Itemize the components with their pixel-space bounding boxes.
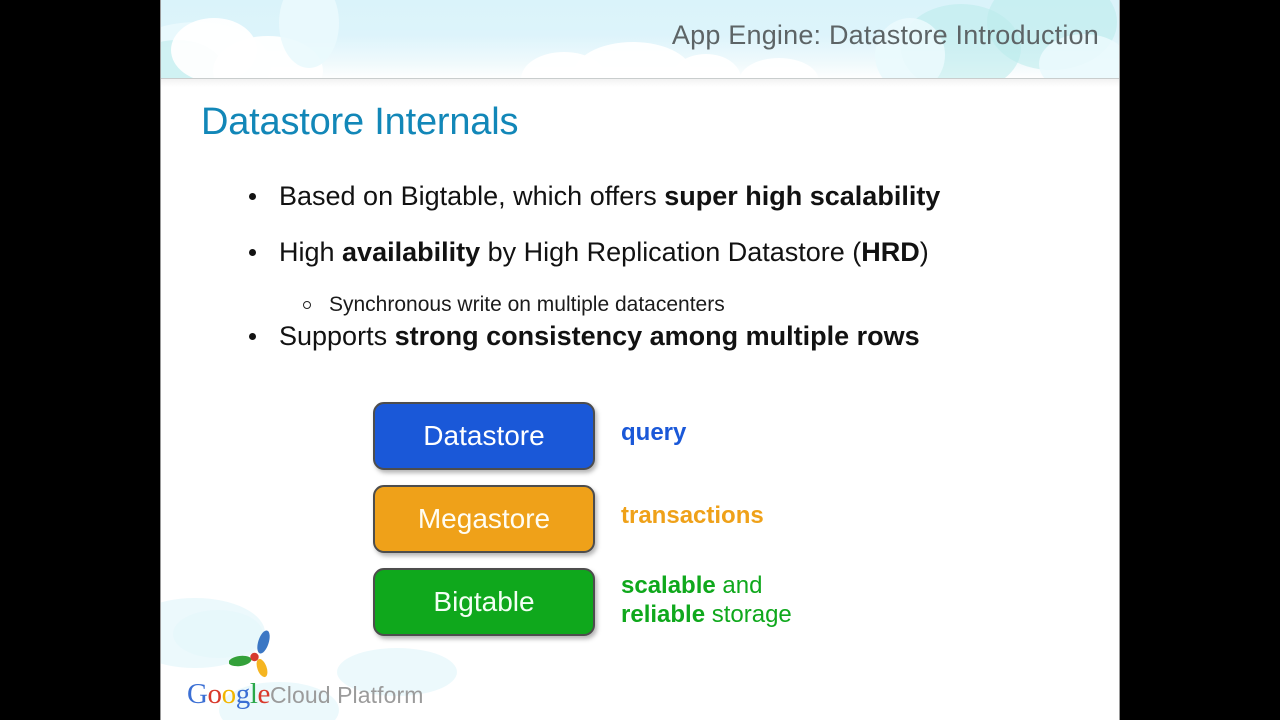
bullet-list: Based on Bigtable, which offers super hi… xyxy=(201,179,1091,375)
emphasis-text: query xyxy=(621,419,686,446)
slide-canvas: App Engine: Datastore Introduction Datas… xyxy=(160,0,1120,720)
sub-bullet-item: Synchronous write on multiple datacenter… xyxy=(201,291,1091,319)
stack-box-megastore: Megastore xyxy=(373,485,595,553)
stack-box-datastore: Datastore xyxy=(373,402,595,470)
sub-bullet-circle-icon xyxy=(303,301,311,309)
brand-suffix: Cloud Platform xyxy=(270,682,424,708)
emphasis-text: strong consistency among multiple rows xyxy=(395,321,920,351)
header-under-shade xyxy=(161,79,1120,87)
brand-letter: g xyxy=(236,678,250,710)
plain-text: ) xyxy=(920,237,929,267)
bullet-item: Supports strong consistency among multip… xyxy=(201,319,1091,353)
brand-letter: o xyxy=(208,678,222,710)
stack-caption: scalable andreliable storage xyxy=(621,571,792,629)
bullet-item: Based on Bigtable, which offers super hi… xyxy=(201,179,1091,213)
video-player-viewport: App Engine: Datastore Introduction Datas… xyxy=(0,0,1280,720)
bullet-item: High availability by High Replication Da… xyxy=(201,235,1091,269)
bullet-text: Supports strong consistency among multip… xyxy=(279,321,920,351)
plain-text: and xyxy=(716,572,763,599)
slide-header-band: App Engine: Datastore Introduction xyxy=(161,0,1120,78)
brand-letter: e xyxy=(258,678,270,710)
bullet-disc-icon xyxy=(249,193,256,200)
bullet-text: Based on Bigtable, which offers super hi… xyxy=(279,181,940,211)
page-title: Datastore Internals xyxy=(201,101,518,144)
plain-text: storage xyxy=(705,601,792,628)
bullet-text: High availability by High Replication Da… xyxy=(279,237,929,267)
emphasis-text: transactions xyxy=(621,502,764,529)
emphasis-text: scalable xyxy=(621,572,716,599)
pinwheel-icon xyxy=(229,630,281,678)
bullet-disc-icon xyxy=(249,333,256,340)
plain-text: High xyxy=(279,237,342,267)
stack-box-label: Megastore xyxy=(418,503,550,535)
plain-text: by High Replication Datastore ( xyxy=(480,237,861,267)
emphasis-text: HRD xyxy=(861,237,920,267)
google-cloud-platform-logo: GoogleCloud Platform xyxy=(175,630,425,712)
stack-box-label: Bigtable xyxy=(433,586,534,618)
stack-caption: query xyxy=(621,418,686,447)
sub-bullet-text: Synchronous write on multiple datacenter… xyxy=(329,293,725,316)
stack-caption: transactions xyxy=(621,501,764,530)
plain-text: Supports xyxy=(279,321,395,351)
brand-wordmark: GoogleCloud Platform xyxy=(187,680,424,709)
plain-text: Based on Bigtable, which offers xyxy=(279,181,664,211)
emphasis-text: availability xyxy=(342,237,480,267)
stack-box-bigtable: Bigtable xyxy=(373,568,595,636)
emphasis-text: reliable xyxy=(621,601,705,628)
emphasis-text: super high scalability xyxy=(664,181,940,211)
bullet-disc-icon xyxy=(249,249,256,256)
brand-letter: l xyxy=(250,678,258,710)
cloud-icon xyxy=(739,58,819,78)
stack-box-label: Datastore xyxy=(423,420,544,452)
brand-letter: G xyxy=(187,678,208,710)
brand-google: Google xyxy=(187,678,270,710)
brand-letter: o xyxy=(222,678,236,710)
header-title: App Engine: Datastore Introduction xyxy=(672,20,1099,51)
